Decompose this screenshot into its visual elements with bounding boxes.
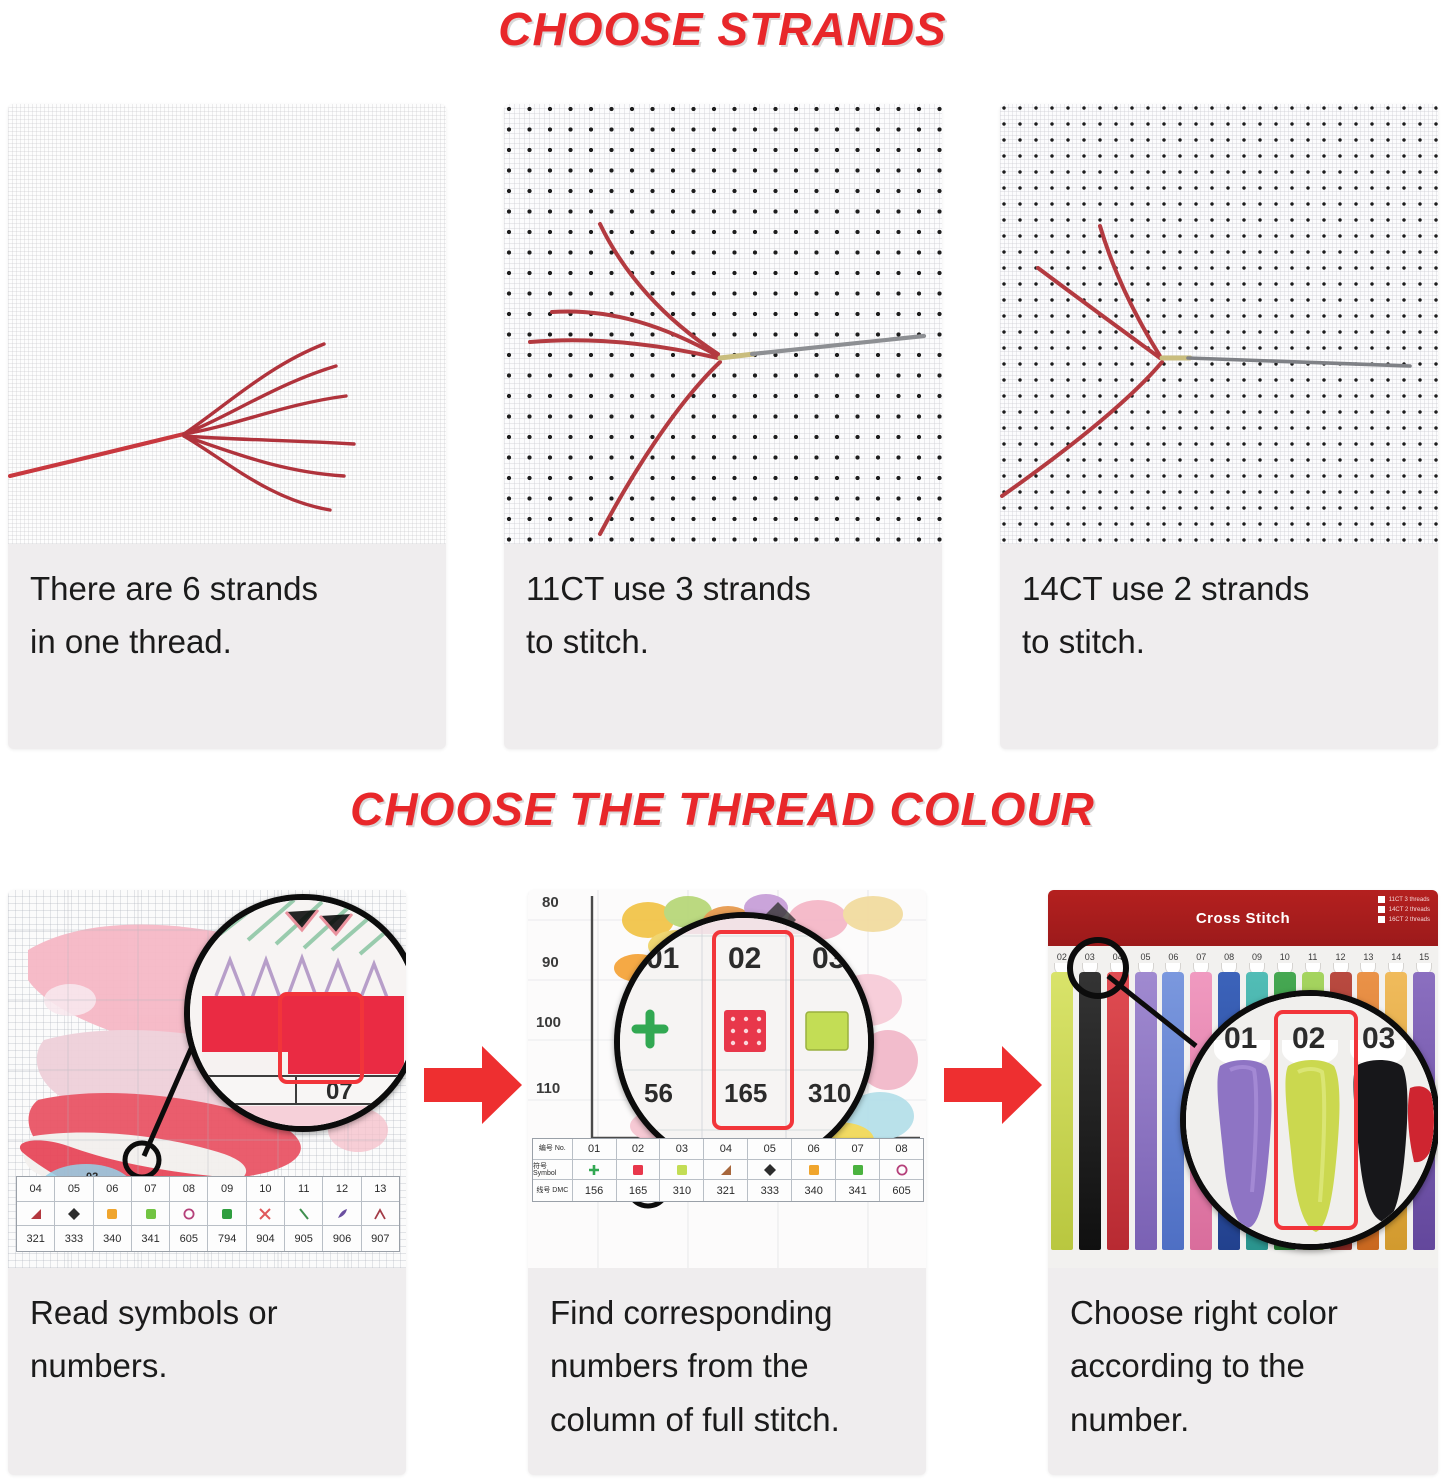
legend-header-cell: 05 [55, 1177, 93, 1202]
magnifier-pattern-zoom: 07 [184, 894, 406, 1132]
caption-read-symbols: Read symbols or numbers. [8, 1268, 406, 1403]
legend-number-cell: 333 [55, 1226, 93, 1251]
legend-number-cell: 340 [94, 1226, 132, 1251]
diamond-black-icon [67, 1207, 81, 1221]
two-strands-needle-illustration [1000, 104, 1438, 544]
legend-symbol-cell [748, 1160, 792, 1181]
legend-symbol-row: 符号 Symbol [533, 1160, 923, 1181]
magnified-number-165: 165 [724, 1078, 767, 1109]
legend-number-cell: 904 [247, 1226, 285, 1251]
magnified-skein-column-02: 02 [1292, 1022, 1325, 1056]
legend-number-cell: 340 [792, 1180, 836, 1201]
legend-table-symbols: 04 05 06 07 08 09 10 11 12 13 [16, 1176, 400, 1252]
three-strands-needle-illustration [504, 104, 942, 544]
legend-number-row: 321 333 340 341 605 794 904 905 906 907 [17, 1226, 399, 1251]
legend-symbol-cell [94, 1202, 132, 1227]
needle-eye [720, 354, 754, 358]
photo-11ct-aida [504, 104, 942, 544]
section-title-choose-thread-colour: CHOOSE THE THREAD COLOUR [0, 782, 1445, 836]
legend-number-cell: 794 [208, 1226, 246, 1251]
legend-number-cell: 321 [704, 1180, 748, 1201]
caption-line-3: column of full stitch. [550, 1393, 904, 1446]
caption-line-1: Choose right color [1070, 1286, 1416, 1339]
square-yellow-green-icon [675, 1163, 689, 1177]
legend-symbol-cell [208, 1202, 246, 1227]
caption-line-1: There are 6 strands [30, 562, 424, 615]
caption-line-1: Find corresponding [550, 1286, 904, 1339]
legend-symbol-cell [792, 1160, 836, 1181]
legend-header-cell: 01 [573, 1139, 617, 1160]
slash-green-icon [297, 1207, 311, 1221]
legend-header-cell: 10 [247, 1177, 285, 1202]
legend-symbol-cell [17, 1202, 55, 1227]
legend-header-cell: 09 [208, 1177, 246, 1202]
photo-14ct-aida [1000, 104, 1438, 544]
legend-header-row: 04 05 06 07 08 09 10 11 12 13 [17, 1177, 399, 1202]
caption-line-2: to stitch. [1022, 615, 1416, 668]
magnified-column-03: 03 [812, 942, 845, 976]
legend-header-row: 编号 No. 01 02 03 04 05 06 07 08 [533, 1139, 923, 1160]
infographic-page: CHOOSE STRANDS There are 6 strands [0, 0, 1445, 1480]
legend-header-cell: 04 [17, 1177, 55, 1202]
photo-floss-card: Cross Stitch 11CT 3 threads 14CT 2 threa… [1048, 890, 1438, 1268]
legend-number-cell: 341 [132, 1226, 170, 1251]
legend-header-cell: 04 [704, 1139, 748, 1160]
photo-chart-with-key: 80 90 100 110 [528, 890, 926, 1268]
legend-header-cell: 08 [170, 1177, 208, 1202]
circle-outline-magenta-icon [895, 1163, 909, 1177]
magnified-column-02: 02 [728, 942, 761, 976]
section-title-choose-strands: CHOOSE STRANDS [0, 2, 1445, 56]
legend-header-cell: 03 [660, 1139, 704, 1160]
caption-line-2: numbers. [30, 1339, 384, 1392]
leaf-purple-icon [335, 1207, 349, 1221]
legend-symbol-cell [704, 1160, 748, 1181]
legend-row-label-dmc: 线号 DMC [533, 1180, 573, 1201]
panel-read-symbols: 02 [8, 890, 406, 1475]
magnified-number-310: 310 [808, 1078, 851, 1109]
magnified-number-56: 56 [644, 1078, 673, 1109]
legend-number-cell: 310 [660, 1180, 704, 1201]
photo-pattern-chart: 02 [8, 890, 406, 1268]
legend-header-cell: 06 [94, 1177, 132, 1202]
legend-header-cell: 07 [836, 1139, 880, 1160]
legend-number-cell: 605 [880, 1180, 923, 1201]
magnifier-skein-zoom: 01 02 03 [1180, 990, 1438, 1250]
caption-six-strands: There are 6 strands in one thread. [8, 544, 446, 679]
panel-six-strands: There are 6 strands in one thread. [8, 104, 446, 749]
legend-symbol-cell [55, 1202, 93, 1227]
square-orange-icon [807, 1163, 821, 1177]
plus-green-icon [587, 1163, 601, 1177]
square-green-light-icon [144, 1207, 158, 1221]
caption-line-2: numbers from the [550, 1339, 904, 1392]
magnified-skein-column-01: 01 [1224, 1022, 1257, 1056]
caption-line-1: Read symbols or [30, 1286, 384, 1339]
caption-line-2: to stitch. [526, 615, 920, 668]
chevron-red-icon [373, 1207, 387, 1221]
arrow-step-1-to-2-icon [418, 1030, 528, 1140]
legend-symbol-cell [880, 1160, 923, 1181]
panel-11ct: 11CT use 3 strands to stitch. [504, 104, 942, 749]
legend-header-cell: 06 [792, 1139, 836, 1160]
legend-number-cell: 333 [748, 1180, 792, 1201]
legend-symbol-cell [132, 1202, 170, 1227]
square-green-dark-icon [220, 1207, 234, 1221]
panel-find-numbers: 80 90 100 110 [528, 890, 926, 1475]
legend-symbol-row [17, 1202, 399, 1227]
caption-14ct: 14CT use 2 strands to stitch. [1000, 544, 1438, 679]
legend-symbol-cell [617, 1160, 661, 1181]
legend-number-cell: 605 [170, 1226, 208, 1251]
triangle-brown-icon [719, 1163, 733, 1177]
triangle-red-icon [29, 1207, 43, 1221]
legend-header-cell: 11 [285, 1177, 323, 1202]
magnified-pattern-content [190, 900, 406, 1126]
legend-number-cell: 321 [17, 1226, 55, 1251]
square-green-icon [851, 1163, 865, 1177]
square-orange-icon [105, 1207, 119, 1221]
legend-header-cell: 13 [362, 1177, 399, 1202]
caption-line-1: 14CT use 2 strands [1022, 562, 1416, 615]
legend-number-cell: 906 [323, 1226, 361, 1251]
caption-line-1: 11CT use 3 strands [526, 562, 920, 615]
magnifier-colour-key-zoom: 01 02 03 56 165 310 [614, 912, 874, 1172]
legend-header-cell: 12 [323, 1177, 361, 1202]
legend-header-cell: 02 [617, 1139, 661, 1160]
circle-outline-magenta-icon [182, 1207, 196, 1221]
diamond-black-icon [763, 1163, 777, 1177]
legend-number-cell: 905 [285, 1226, 323, 1251]
magnified-cell-label-07: 07 [326, 1078, 353, 1106]
legend-row-label-symbol: 符号 Symbol [533, 1160, 573, 1181]
legend-symbol-cell [660, 1160, 704, 1181]
legend-number-cell: 156 [573, 1180, 617, 1201]
magnified-skein-column-03: 03 [1362, 1022, 1395, 1056]
legend-symbol-cell [285, 1202, 323, 1227]
legend-number-row: 线号 DMC 156 165 310 321 333 340 341 605 [533, 1180, 923, 1201]
legend-symbol-cell [247, 1202, 285, 1227]
legend-number-cell: 907 [362, 1226, 399, 1251]
caption-line-2: in one thread. [30, 615, 424, 668]
caption-line-2: according to the [1070, 1339, 1416, 1392]
legend-symbol-cell [573, 1160, 617, 1181]
legend-number-cell: 341 [836, 1180, 880, 1201]
square-red-filled-icon [631, 1163, 645, 1177]
legend-symbol-cell [323, 1202, 361, 1227]
photo-six-strands [8, 104, 446, 544]
legend-symbol-cell [170, 1202, 208, 1227]
legend-table-full-stitch: 编号 No. 01 02 03 04 05 06 07 08 符号 Symbol [532, 1138, 924, 1202]
legend-symbol-cell [362, 1202, 399, 1227]
panel-14ct: 14CT use 2 strands to stitch. [1000, 104, 1438, 749]
arrow-step-2-to-3-icon [938, 1030, 1048, 1140]
caption-line-3: number. [1070, 1393, 1416, 1446]
legend-number-cell: 165 [617, 1180, 661, 1201]
legend-row-label-no: 编号 No. [533, 1139, 573, 1160]
legend-header-cell: 08 [880, 1139, 923, 1160]
caption-11ct: 11CT use 3 strands to stitch. [504, 544, 942, 679]
needle-shaft [752, 336, 924, 354]
cross-red-icon [258, 1207, 272, 1221]
caption-choose-color: Choose right color according to the numb… [1048, 1268, 1438, 1456]
legend-symbol-cell [836, 1160, 880, 1181]
needle-shaft [1188, 358, 1410, 366]
magnified-column-01: 01 [646, 942, 679, 976]
legend-header-cell: 05 [748, 1139, 792, 1160]
legend-header-cell: 07 [132, 1177, 170, 1202]
panel-choose-color: Cross Stitch 11CT 3 threads 14CT 2 threa… [1048, 890, 1438, 1475]
caption-find-numbers: Find corresponding numbers from the colu… [528, 1268, 926, 1456]
six-strands-illustration [8, 104, 446, 544]
